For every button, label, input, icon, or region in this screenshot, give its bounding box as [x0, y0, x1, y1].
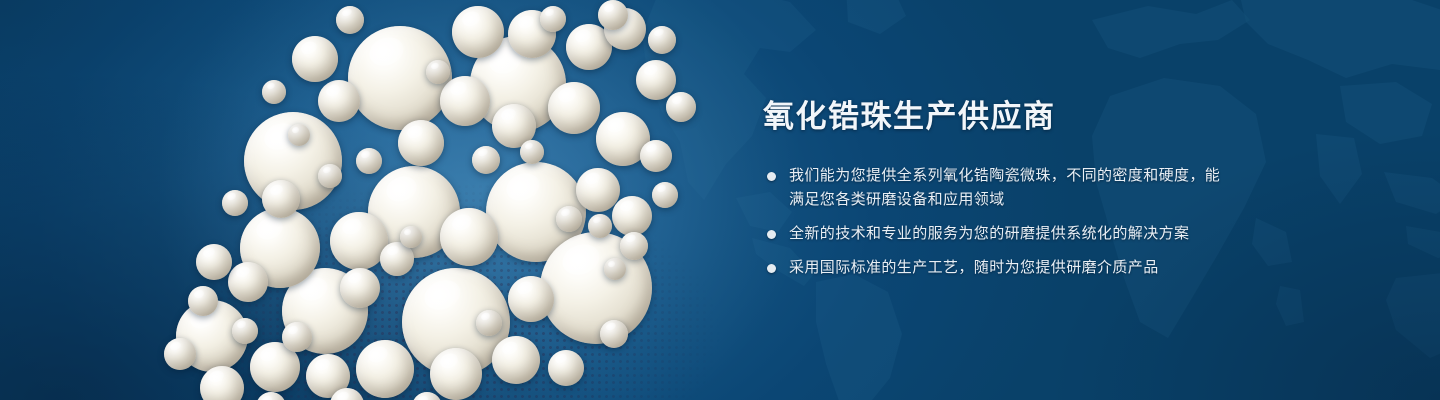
bullet-dot-icon [767, 172, 776, 181]
bead [548, 82, 600, 134]
bead [600, 320, 628, 348]
list-item-label: 采用国际标准的生产工艺，随时为您提供研磨介质产品 [789, 259, 1159, 276]
bead [598, 0, 628, 30]
bead [164, 338, 196, 370]
bead [492, 336, 540, 384]
bead [540, 6, 566, 32]
bead [196, 244, 232, 280]
list-item: 采用国际标准的生产工艺，随时为您提供研磨介质产品 [763, 256, 1233, 280]
bead [292, 36, 338, 82]
list-item: 全新的技术和专业的服务为您的研磨提供系统化的解决方案 [763, 222, 1233, 246]
bead [256, 392, 286, 400]
bead [318, 80, 360, 122]
bead [452, 6, 504, 58]
bead [430, 348, 482, 400]
bead [400, 226, 422, 248]
bead [188, 286, 218, 316]
bead [262, 80, 286, 104]
page-title: 氧化锆珠生产供应商 [763, 100, 1233, 134]
bead [232, 318, 258, 344]
bead [288, 124, 310, 146]
bead [200, 366, 244, 400]
bead [222, 190, 248, 216]
banner-content: 氧化锆珠生产供应商 我们能为您提供全系列氧化锆陶瓷微珠，不同的密度和硬度，能满足… [763, 100, 1233, 280]
bead [476, 310, 502, 336]
bead [440, 208, 498, 266]
bead [576, 168, 620, 212]
bead [336, 6, 364, 34]
bead [398, 120, 444, 166]
bead [636, 60, 676, 100]
bead [440, 76, 490, 126]
feature-list: 我们能为您提供全系列氧化锆陶瓷微珠，不同的密度和硬度，能满足您各类研磨设备和应用… [763, 164, 1233, 280]
bead [588, 214, 612, 238]
bead [318, 164, 342, 188]
bead [282, 322, 312, 352]
list-item: 我们能为您提供全系列氧化锆陶瓷微珠，不同的密度和硬度，能满足您各类研磨设备和应用… [763, 164, 1233, 212]
bead [648, 26, 676, 54]
bead [556, 206, 582, 232]
bead [262, 180, 300, 218]
bead [520, 140, 544, 164]
bead [508, 276, 554, 322]
bead [604, 258, 626, 280]
bead [640, 140, 672, 172]
bead [666, 92, 696, 122]
bead [228, 262, 268, 302]
bead [340, 268, 380, 308]
bead [620, 232, 648, 260]
list-item-label: 全新的技术和专业的服务为您的研磨提供系统化的解决方案 [789, 225, 1189, 242]
hero-banner: 氧化锆珠生产供应商 我们能为您提供全系列氧化锆陶瓷微珠，不同的密度和硬度，能满足… [0, 0, 1440, 400]
bead [356, 148, 382, 174]
bead [548, 350, 584, 386]
bullet-dot-icon [767, 264, 776, 273]
bead [426, 60, 450, 84]
bead [356, 340, 414, 398]
list-item-label: 我们能为您提供全系列氧化锆陶瓷微珠，不同的密度和硬度，能满足您各类研磨设备和应用… [789, 167, 1220, 208]
bead [472, 146, 500, 174]
bead [652, 182, 678, 208]
bullet-dot-icon [767, 230, 776, 239]
bead [612, 196, 652, 236]
